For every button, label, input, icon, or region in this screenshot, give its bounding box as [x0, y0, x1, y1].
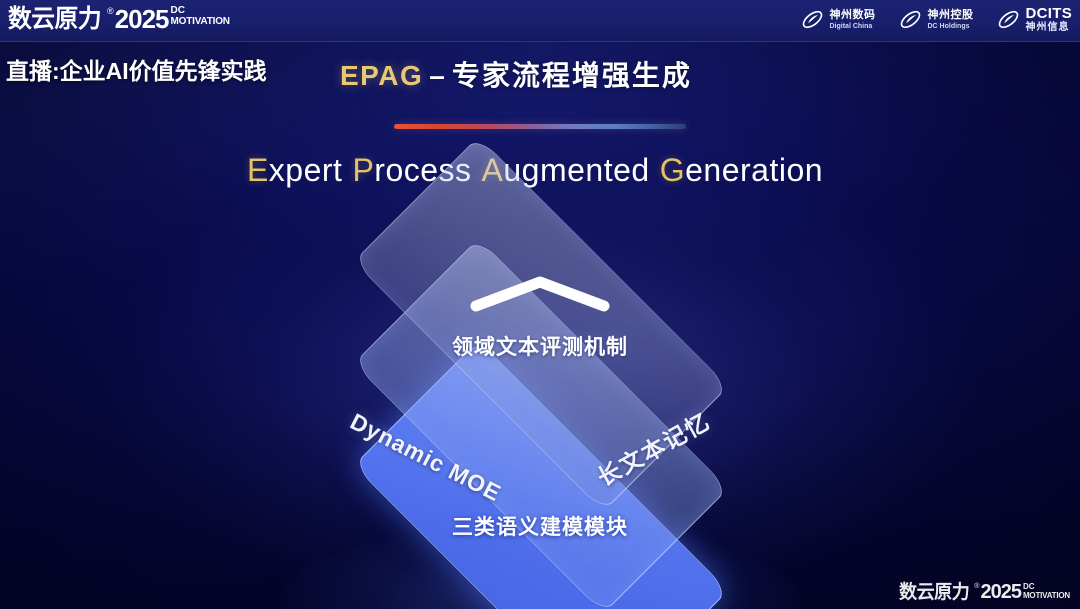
swirl-logo-icon	[996, 7, 1021, 32]
subtitle-rest: xpert	[269, 152, 343, 188]
gradient-divider	[394, 124, 686, 129]
partner-logo-digital-china: 神州数码 Digital China	[800, 7, 876, 32]
partner-logo-dcits: DCITS 神州信息	[996, 6, 1073, 33]
partner-label: DCITS 神州信息	[1026, 6, 1073, 33]
footer-watermark-logo: 数云原力 ® 2025 DC MOTIVATION	[899, 582, 1070, 603]
brand-dc-text: DC	[171, 6, 230, 16]
swirl-logo-icon	[800, 7, 825, 32]
brand-motivation-text: MOTIVATION	[171, 16, 230, 27]
header-bar: 数云原力 ® 2025 DC MOTIVATION 神州数码 Digital C…	[0, 0, 1080, 42]
footer-brand-dc-motivation: DC MOTIVATION	[1023, 583, 1070, 600]
isometric-layer-stack: 领域文本评测机制 Dynamic MOE 长文本记忆 三类语义建模模块	[290, 225, 790, 590]
subtitle-initial: P	[352, 152, 374, 188]
footer-brand-name-cn: 数云原力	[899, 582, 969, 603]
footer-brand-dc-text: DC	[1023, 583, 1070, 591]
title-dash: –	[429, 60, 446, 91]
subtitle-initial: E	[247, 152, 269, 188]
swirl-logo-icon	[898, 7, 923, 32]
live-stream-banner: 直播:企业AI价值先锋实践	[6, 52, 267, 86]
subtitle-word-expert: Expert	[247, 152, 342, 188]
partner-name-en: DC Holdings	[928, 23, 974, 30]
registered-mark-icon: ®	[107, 5, 114, 17]
partner-name-en: DCITS	[1026, 6, 1073, 21]
footer-registered-mark-icon: ®	[974, 582, 979, 591]
brand-dc-motivation: DC MOTIVATION	[171, 6, 230, 27]
partner-name-cn: 神州控股	[928, 10, 974, 21]
subtitle-word-generation: Generation	[660, 152, 823, 188]
page-title: EPAG–专家流程增强生成	[340, 54, 692, 94]
subtitle-rest: eneration	[685, 152, 823, 188]
subtitle-initial: G	[660, 152, 685, 188]
partner-logo-dc-holdings: 神州控股 DC Holdings	[898, 7, 974, 32]
partner-name-cn: 神州信息	[1026, 23, 1073, 33]
footer-brand-year: 2025	[980, 582, 1021, 603]
footer-brand-motivation-text: MOTIVATION	[1023, 591, 1070, 600]
page-subtitle: ExpertProcessAugmentedGeneration	[0, 152, 1080, 189]
chevron-up-icon	[468, 273, 612, 313]
brand-name-cn: 数云原力	[8, 5, 101, 33]
partner-label: 神州数码 Digital China	[830, 10, 876, 30]
partner-name-cn: 神州数码	[830, 10, 876, 21]
partner-name-en: Digital China	[830, 23, 876, 30]
title-chinese: 专家流程增强生成	[452, 60, 692, 91]
title-acronym: EPAG	[340, 60, 423, 91]
partner-logo-group: 神州数码 Digital China 神州控股 DC Holdings	[800, 6, 1073, 33]
partner-label: 神州控股 DC Holdings	[928, 10, 974, 30]
brand-year: 2025	[115, 5, 169, 33]
slide-canvas: 数云原力 ® 2025 DC MOTIVATION 神州数码 Digital C…	[0, 0, 1080, 609]
brand-logo: 数云原力 ® 2025 DC MOTIVATION	[8, 5, 230, 35]
